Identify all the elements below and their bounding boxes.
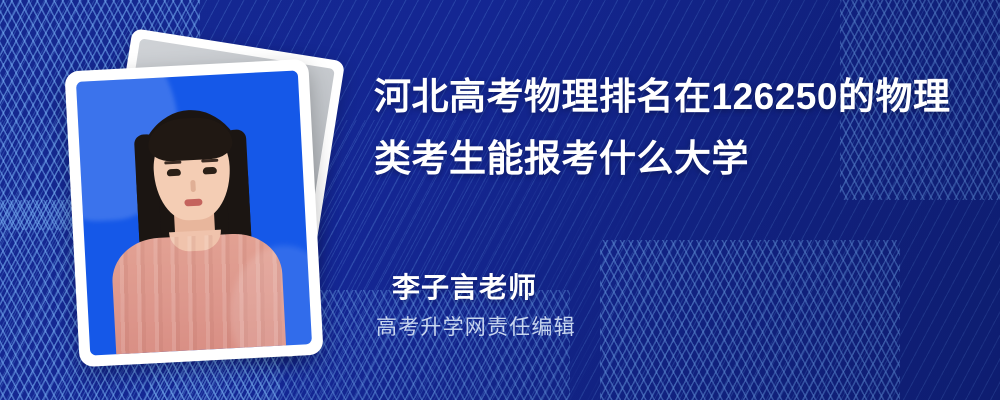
author-photo (76, 70, 312, 355)
photo-card-stack (60, 35, 350, 365)
portrait-eye-right (203, 167, 217, 175)
photo-card-front (64, 59, 323, 367)
author-block: 李子言老师 高考升学网责任编辑 (392, 270, 952, 342)
author-role: 高考升学网责任编辑 (376, 314, 952, 342)
portrait-eye-left (167, 169, 181, 177)
headline-block: 河北高考物理排名在126250的物理 类考生能报考什么大学 (374, 66, 974, 190)
portrait-dress (110, 232, 288, 356)
portrait-dress-folds (110, 232, 288, 356)
article-cover-banner: 河北高考物理排名在126250的物理 类考生能报考什么大学 李子言老师 高考升学… (0, 0, 1000, 400)
author-name: 李子言老师 (392, 270, 952, 306)
page-title: 河北高考物理排名在126250的物理 类考生能报考什么大学 (374, 66, 974, 190)
page-title-line-2: 类考生能报考什么大学 (374, 128, 974, 190)
portrait-mouth (184, 199, 202, 207)
portrait-nose (190, 180, 196, 192)
page-title-line-1: 河北高考物理排名在126250的物理 (374, 76, 950, 117)
portrait-illustration (76, 70, 312, 355)
